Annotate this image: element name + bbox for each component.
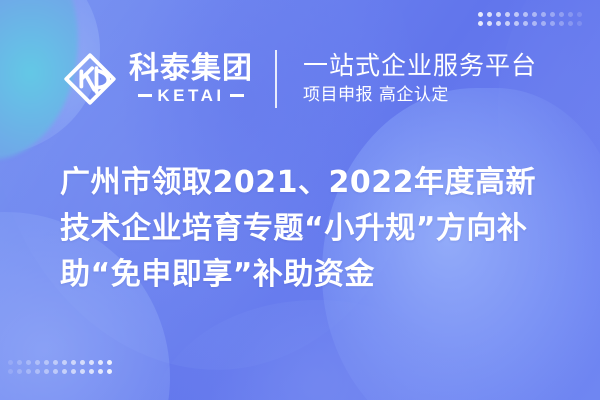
decor-dot	[44, 369, 49, 374]
decor-dot	[532, 21, 537, 26]
decor-dot	[559, 12, 564, 17]
decor-dot	[505, 21, 510, 26]
decor-dot	[496, 21, 501, 26]
decor-dot	[89, 369, 94, 374]
decor-dot	[550, 21, 555, 26]
decor-dot	[496, 12, 501, 17]
decor-dot	[487, 21, 492, 26]
decor-dot	[559, 21, 564, 26]
decor-dot	[532, 12, 537, 17]
brand-name-en-row: KETAI	[138, 87, 243, 104]
decor-dot	[523, 12, 528, 17]
decor-dot	[541, 12, 546, 17]
decor-dot	[541, 21, 546, 26]
decor-dot	[107, 369, 112, 374]
brand-name-en: KETAI	[157, 87, 224, 104]
decor-dot	[35, 360, 40, 365]
decor-dot	[17, 369, 22, 374]
decor-dot	[514, 12, 519, 17]
decor-dot	[8, 369, 13, 374]
decor-dot	[550, 12, 555, 17]
brand-name-cn: 科泰集团	[129, 54, 253, 85]
decor-dot	[89, 360, 94, 365]
brand-logo-lockup[interactable]: 科泰集团 KETAI	[63, 52, 253, 106]
decor-dot	[26, 360, 31, 365]
decor-dot	[568, 12, 573, 17]
decor-dot	[62, 369, 67, 374]
decor-dot	[71, 369, 76, 374]
background-bottom-mid-blob	[152, 300, 482, 400]
promo-banner: 科泰集团 KETAI 一站式企业服务平台 项目申报 高企认定 广州市领取2021…	[0, 0, 600, 400]
tagline-secondary: 项目申报 高企认定	[303, 83, 537, 108]
decor-dot	[71, 360, 76, 365]
decor-dot	[62, 360, 67, 365]
tagline-primary: 一站式企业服务平台	[303, 50, 537, 81]
ketai-diamond-monogram-icon	[63, 52, 117, 106]
wordmark-rule-left	[138, 94, 152, 97]
brand-wordmark: 科泰集团 KETAI	[129, 54, 253, 105]
decor-dot	[478, 21, 483, 26]
decor-dot	[80, 360, 85, 365]
decor-dot	[53, 360, 58, 365]
banner-header: 科泰集团 KETAI 一站式企业服务平台 项目申报 高企认定	[0, 40, 600, 118]
wordmark-rule-right	[230, 94, 244, 97]
decor-dot	[35, 369, 40, 374]
decor-dot	[17, 360, 22, 365]
decor-dot	[80, 369, 85, 374]
decor-dot	[523, 21, 528, 26]
dot-pattern-bottom-left	[8, 360, 112, 374]
decor-dot	[26, 369, 31, 374]
decor-dot	[107, 360, 112, 365]
decor-dot	[514, 21, 519, 26]
decor-dot	[568, 21, 573, 26]
decor-dot	[577, 21, 582, 26]
decor-dot	[8, 360, 13, 365]
decor-dot	[53, 369, 58, 374]
decor-dot	[478, 12, 483, 17]
banner-headline: 广州市领取2021、2022年度高新技术企业培育专题“小升规”方向补助“免申即享…	[60, 160, 560, 298]
decor-dot	[44, 360, 49, 365]
decor-dot	[487, 12, 492, 17]
dot-pattern-top-right	[478, 12, 582, 26]
tagline-block: 一站式企业服务平台 项目申报 高企认定	[303, 50, 537, 108]
decor-dot	[98, 360, 103, 365]
decor-dot	[577, 12, 582, 17]
decor-dot	[98, 369, 103, 374]
header-divider	[275, 50, 277, 108]
decor-dot	[505, 12, 510, 17]
